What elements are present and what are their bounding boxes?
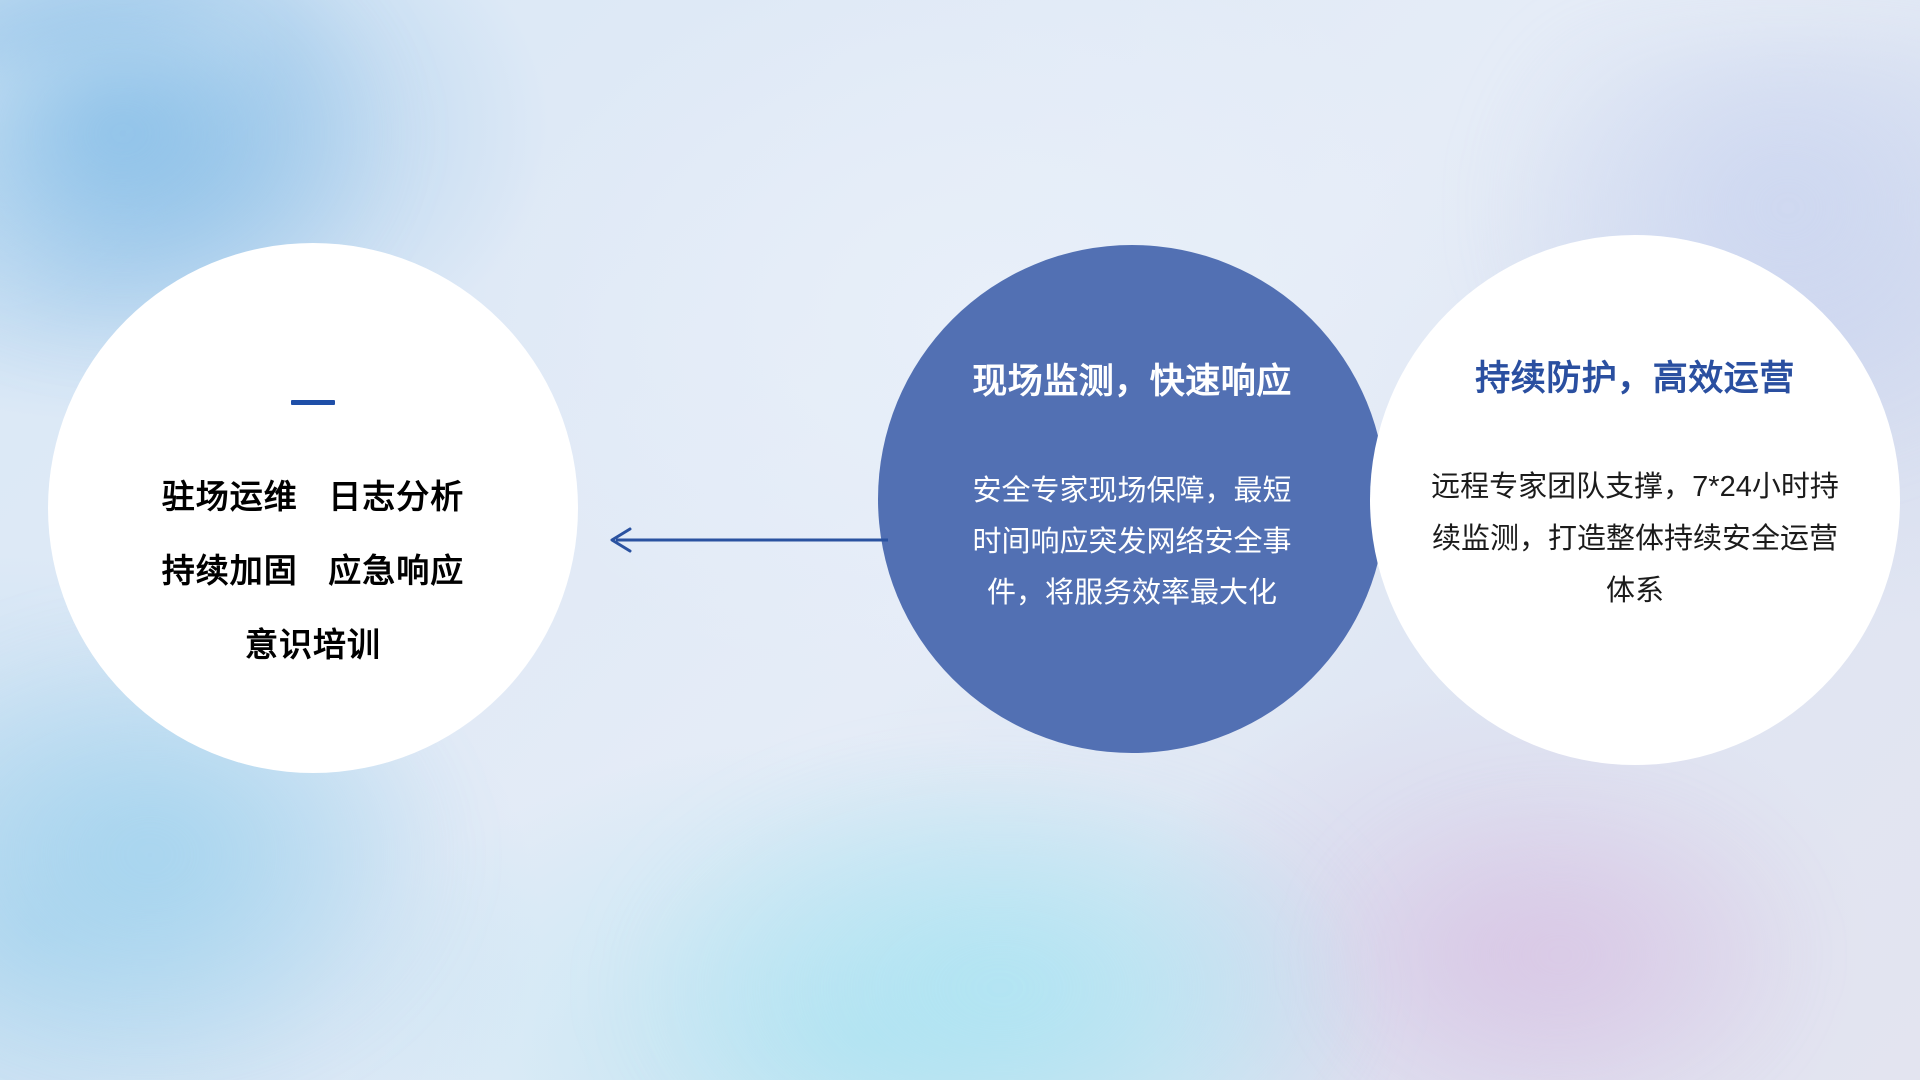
middle-circle-card[interactable]: 现场监测，快速响应 安全专家现场保障，最短时间响应突发网络安全事件，将服务效率最… [878, 245, 1386, 753]
right-circle-card[interactable]: 持续防护，高效运营 远程专家团队支撑，7*24小时持续监测，打造整体持续安全运营… [1370, 235, 1900, 765]
left-circle-card[interactable]: 驻场运维 日志分析 持续加固 应急响应 意识培训 [48, 243, 578, 773]
background-blob-bottom-center [620, 760, 1380, 1080]
left-circle-line-2: 持续加固 应急响应 [162, 534, 465, 608]
left-circle-keyword-list: 驻场运维 日志分析 持续加固 应急响应 意识培训 [162, 460, 465, 682]
middle-circle-body: 安全专家现场保障，最短时间响应突发网络安全事件，将服务效率最大化 [967, 466, 1297, 619]
divider-dash [291, 400, 335, 405]
background-blob-bottom-right [1320, 790, 1800, 1080]
slide-canvas: 驻场运维 日志分析 持续加固 应急响应 意识培训 现场监测，快速响应 安全专家现… [0, 0, 1920, 1080]
left-circle-line-1: 驻场运维 日志分析 [162, 460, 465, 534]
right-circle-title: 持续防护，高效运营 [1475, 350, 1795, 401]
left-circle-line-3: 意识培训 [162, 608, 465, 682]
middle-circle-title: 现场监测，快速响应 [972, 353, 1292, 404]
right-circle-body: 远程专家团队支撑，7*24小时持续监测，打造整体持续安全运营体系 [1425, 461, 1845, 617]
left-arrow-icon [600, 525, 890, 555]
